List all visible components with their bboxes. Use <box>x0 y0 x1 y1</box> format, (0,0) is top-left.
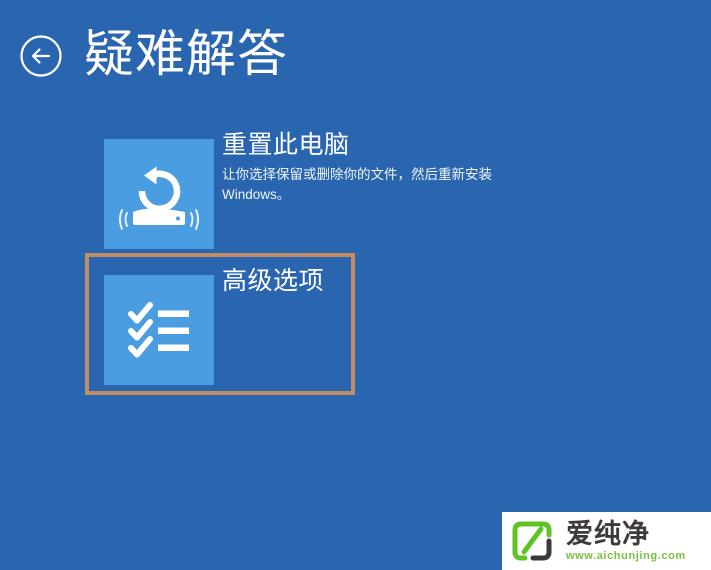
aichunjing-bracket-logo <box>510 519 558 563</box>
option-title: 重置此电脑 <box>222 129 512 161</box>
watermark-url: www.aichunjing.com <box>566 549 686 563</box>
option-icon-tile <box>104 139 214 249</box>
back-button[interactable] <box>18 33 64 79</box>
checklist-icon <box>104 275 214 385</box>
option-advanced-options[interactable]: 高级选项 <box>85 253 355 395</box>
option-text-block: 重置此电脑 让你选择保留或删除你的文件，然后重新安装 Windows。 <box>222 129 512 205</box>
watermark: 爱纯净 www.aichunjing.com <box>502 512 711 570</box>
watermark-text-block: 爱纯净 www.aichunjing.com <box>566 519 686 563</box>
option-icon-tile <box>104 275 214 385</box>
reset-pc-icon <box>104 139 214 249</box>
recovery-screen: 疑难解答 <box>0 0 711 570</box>
option-title: 高级选项 <box>222 265 512 297</box>
option-description: 让你选择保留或删除你的文件，然后重新安装 Windows。 <box>222 165 494 205</box>
page-title: 疑难解答 <box>84 17 288 91</box>
option-reset-this-pc[interactable]: 重置此电脑 让你选择保留或删除你的文件，然后重新安装 Windows。 <box>85 117 355 257</box>
screen-header: 疑难解答 <box>0 0 711 110</box>
watermark-brand: 爱纯净 <box>566 519 686 549</box>
option-text-block: 高级选项 <box>222 265 512 301</box>
back-arrow-circle-icon <box>18 33 64 79</box>
